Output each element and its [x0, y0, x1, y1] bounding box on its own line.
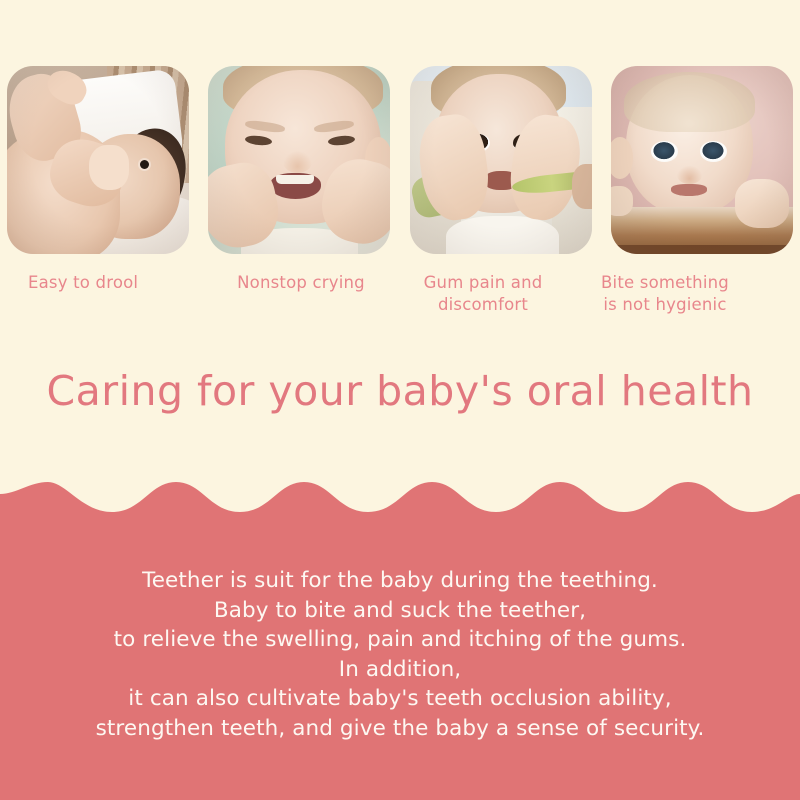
- baby-drooling-in-crib-image: [7, 66, 189, 254]
- photo-captions: Easy to drool Nonstop crying Gum pain an…: [0, 272, 800, 316]
- product-description-text: Teether is suit for the baby during the …: [0, 566, 800, 743]
- baby-eye-right: [700, 141, 727, 162]
- baby-hair: [624, 72, 755, 132]
- wooden-crib-rail-shadow: [611, 245, 793, 254]
- baby-hand: [89, 145, 129, 190]
- photo-caption-bite-something-is-not-hygienic: Bite something is not hygienic: [574, 272, 756, 316]
- photo-caption-nonstop-crying: Nonstop crying: [210, 272, 392, 316]
- baby-eye-right: [140, 160, 149, 169]
- baby-crying-image: [208, 66, 390, 254]
- photo-caption-gum-pain-and-discomfort: Gum pain and discomfort: [392, 272, 574, 316]
- photo-caption-easy-to-drool: Easy to drool: [7, 272, 210, 316]
- photo-strip: [0, 66, 800, 254]
- photo-card-baby-biting-crib-rail: [611, 66, 793, 254]
- baby-gum-pain-feeding-image: [410, 66, 592, 254]
- product-infographic: Easy to drool Nonstop crying Gum pain an…: [0, 0, 800, 800]
- page-headline: Caring for your baby's oral health: [0, 366, 800, 416]
- baby-bib: [446, 216, 559, 254]
- baby-nose: [283, 151, 312, 174]
- baby-eye-left: [651, 141, 678, 162]
- baby-biting-crib-rail-image: [611, 66, 793, 254]
- top-cream-section: Easy to drool Nonstop crying Gum pain an…: [0, 0, 800, 500]
- parent-hand: [572, 164, 592, 209]
- baby-teeth: [276, 175, 314, 184]
- photo-card-baby-drooling-in-crib: [7, 66, 189, 254]
- baby-hand-left: [611, 186, 633, 216]
- photo-card-baby-crying: [208, 66, 390, 254]
- baby-hand-right: [735, 179, 790, 228]
- baby-mouth: [671, 184, 707, 195]
- photo-card-baby-gum-pain-feeding: [410, 66, 592, 254]
